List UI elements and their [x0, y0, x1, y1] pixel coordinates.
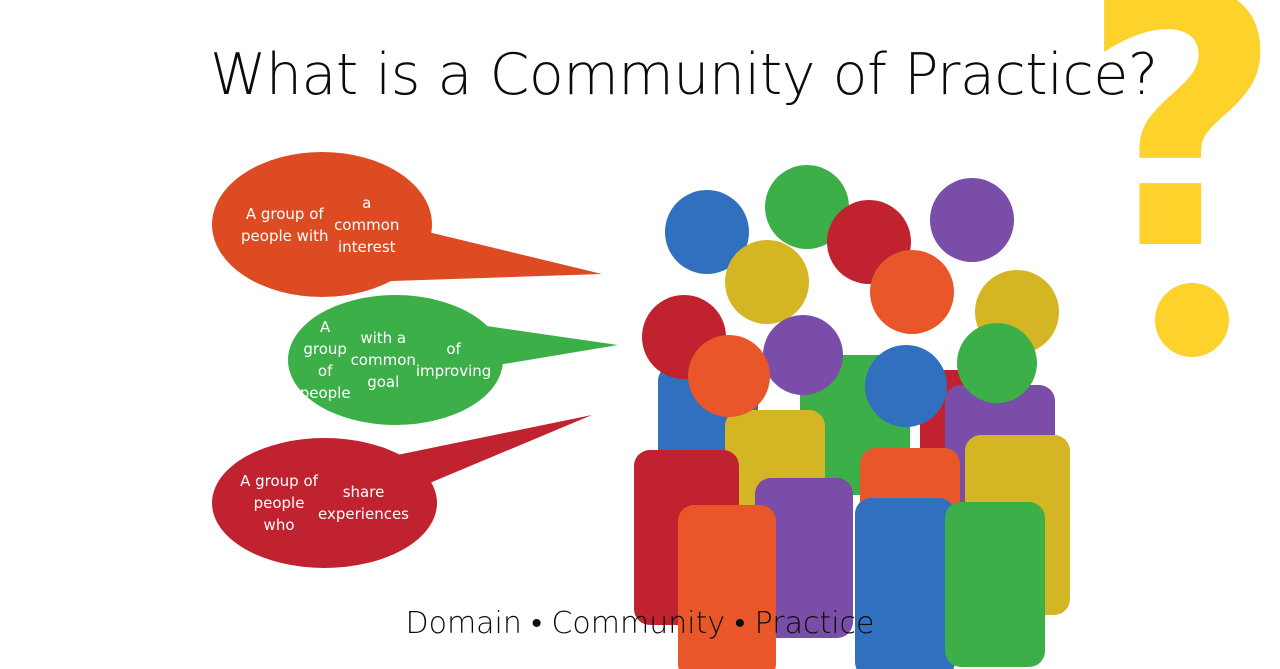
question-mark-dot-icon	[1155, 283, 1229, 357]
crowd-person-body	[855, 498, 955, 669]
bubble-line-1: A group of people with	[240, 203, 329, 247]
page-title: What is a Community of Practice?	[210, 42, 1090, 108]
crowd-person-head	[688, 335, 770, 417]
footer-tagline: Domain • Community • Practice	[0, 606, 1280, 641]
crowd-person-head	[725, 240, 809, 324]
crowd-person-body	[678, 505, 776, 669]
crowd-person-head	[957, 323, 1037, 403]
question-mark-icon: ?	[1080, 0, 1280, 268]
speech-bubble-goal: A group of people with a common goal of …	[288, 295, 618, 425]
bubble-line-1: A group of people who	[240, 470, 318, 536]
bubble-line-2: share experiences	[318, 481, 409, 525]
slide-canvas: What is a Community of Practice? ? A gro…	[0, 0, 1280, 669]
bubble-line-1: A group of people	[300, 316, 351, 404]
speech-bubble-experience: A group of people who share experiences	[212, 415, 592, 555]
crowd-person-body	[945, 502, 1045, 667]
crowd-person-head	[870, 250, 954, 334]
bubble-line-2: a common interest	[329, 192, 404, 258]
speech-bubble-interest: A group of people with a common interest	[212, 152, 632, 297]
crowd-person-head	[763, 315, 843, 395]
crowd-person-head	[865, 345, 947, 427]
crowd-person-head	[930, 178, 1014, 262]
crowd-illustration	[620, 160, 1080, 580]
bubble-line-3: of improving	[416, 338, 491, 382]
speech-bubble-interest-text: A group of people with a common interest	[212, 152, 432, 297]
bubble-line-2: with a common goal	[351, 327, 416, 393]
speech-bubble-experience-text: A group of people who share experiences	[212, 438, 437, 568]
speech-bubble-goal-text: A group of people with a common goal of …	[288, 295, 503, 425]
